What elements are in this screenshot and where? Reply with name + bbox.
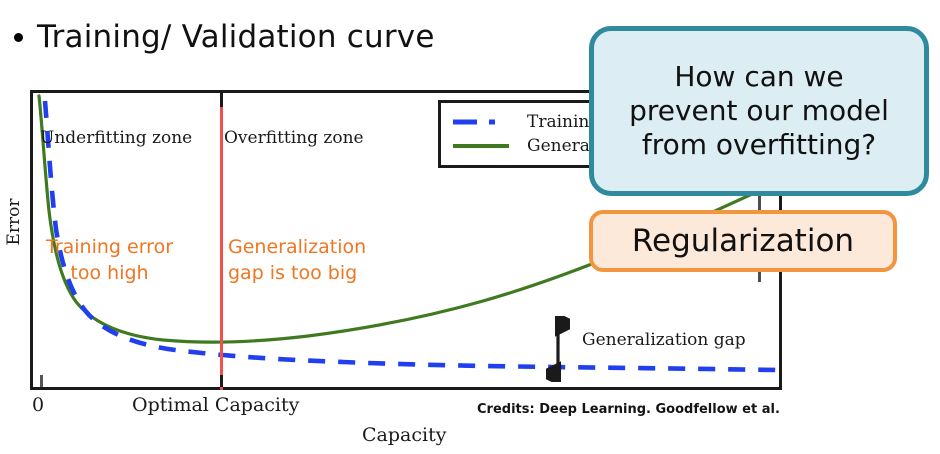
optimal-capacity-tick-top <box>220 93 223 107</box>
legend-swatch-training-dashdot <box>451 116 513 128</box>
generalization-gap-arrow-icon <box>546 316 570 382</box>
generalization-gap-note-line1: Generalization <box>228 236 366 258</box>
bullet-point-icon <box>14 33 23 42</box>
legend-swatch-generalization-solid <box>451 140 513 152</box>
training-error-note-line2: too high <box>46 261 173 287</box>
x-axis-tick-zero: 0 <box>32 394 44 416</box>
x-axis-tick-optimal-capacity: Optimal Capacity <box>132 394 299 416</box>
optimal-capacity-tick-bottom <box>220 375 223 387</box>
generalization-gap-note-line2: gap is too big <box>228 262 357 284</box>
slide-canvas: Training/ Validation curve Underfitting … <box>0 0 940 454</box>
origin-tick <box>40 375 43 387</box>
overfitting-zone-label: Overfitting zone <box>224 128 364 148</box>
training-error-note-line1: Training error <box>46 236 173 258</box>
generalization-gap-note: Generalization gap is too big <box>228 235 366 286</box>
callout-answer-box[interactable]: Regularization <box>589 210 897 272</box>
underfitting-zone-label: Underfitting zone <box>40 128 192 148</box>
slide-title-row: Training/ Validation curve <box>8 14 568 60</box>
training-error-note: Training error too high <box>46 235 173 286</box>
generalization-gap-arrow-label: Generalization gap <box>582 330 746 350</box>
callout-answer-text: Regularization <box>632 223 854 259</box>
y-axis-label: Error <box>4 192 24 252</box>
callout-question-box[interactable]: How can weprevent our modelfrom overfitt… <box>589 26 929 196</box>
optimal-capacity-line <box>220 93 223 390</box>
credits-text: Credits: Deep Learning. Goodfellow et al… <box>477 402 780 417</box>
x-axis-label: Capacity <box>362 424 446 446</box>
page-title: Training/ Validation curve <box>37 19 435 55</box>
callout-question-text: How can weprevent our modelfrom overfitt… <box>629 60 889 162</box>
